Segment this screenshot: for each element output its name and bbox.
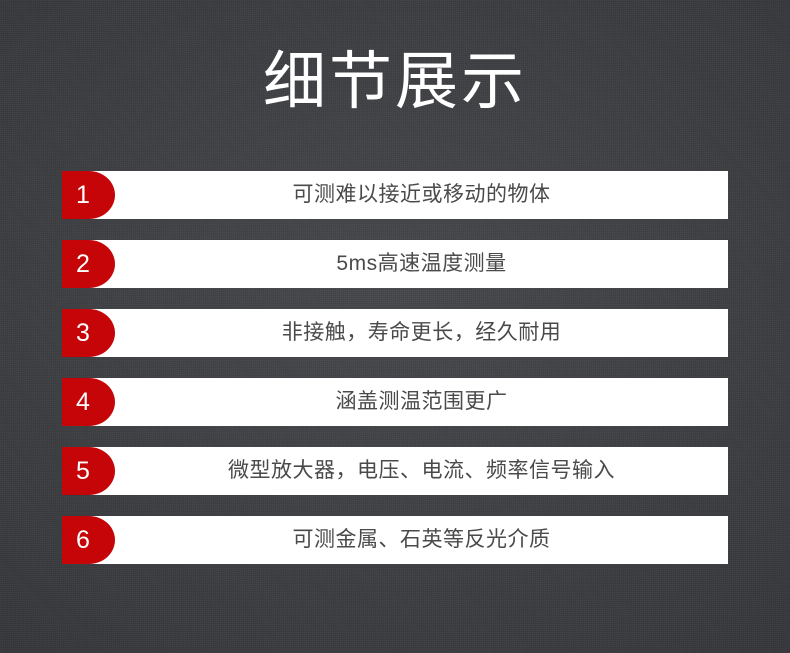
feature-text: 可测金属、石英等反光介质 <box>115 516 728 564</box>
feature-number: 3 <box>62 309 104 357</box>
feature-number: 4 <box>62 378 104 426</box>
feature-text: 5ms高速温度测量 <box>115 240 728 288</box>
list-item: 5 微型放大器，电压、电流、频率信号输入 <box>62 447 728 495</box>
poster-content: 细节展示 1 可测难以接近或移动的物体 2 5ms高速温度测量 3 非接触，寿命… <box>0 0 790 653</box>
feature-number: 6 <box>62 516 104 564</box>
feature-number: 5 <box>62 447 104 495</box>
list-item: 3 非接触，寿命更长，经久耐用 <box>62 309 728 357</box>
list-item: 4 涵盖测温范围更广 <box>62 378 728 426</box>
feature-text: 可测难以接近或移动的物体 <box>115 171 728 219</box>
feature-text: 非接触，寿命更长，经久耐用 <box>115 309 728 357</box>
list-item: 2 5ms高速温度测量 <box>62 240 728 288</box>
feature-text: 涵盖测温范围更广 <box>115 378 728 426</box>
list-item: 1 可测难以接近或移动的物体 <box>62 171 728 219</box>
feature-text: 微型放大器，电压、电流、频率信号输入 <box>115 447 728 495</box>
feature-number: 2 <box>62 240 104 288</box>
feature-list: 1 可测难以接近或移动的物体 2 5ms高速温度测量 3 非接触，寿命更长，经久… <box>62 171 728 564</box>
feature-number: 1 <box>62 171 104 219</box>
product-detail-poster: 细节展示 1 可测难以接近或移动的物体 2 5ms高速温度测量 3 非接触，寿命… <box>0 0 790 653</box>
list-item: 6 可测金属、石英等反光介质 <box>62 516 728 564</box>
page-title: 细节展示 <box>0 44 790 120</box>
